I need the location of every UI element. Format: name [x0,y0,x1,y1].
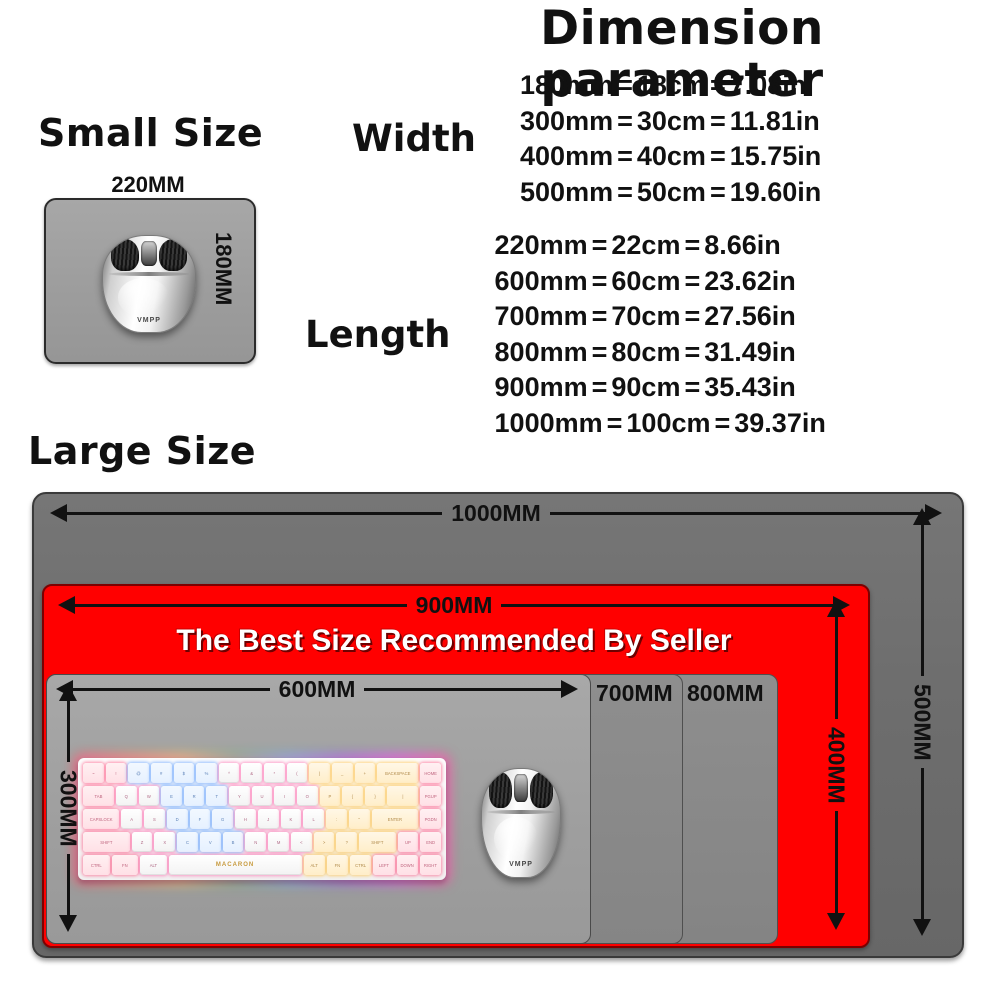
key: @ [128,763,149,783]
equals-sign: = [588,266,612,296]
strip-label-700mm: 700MM [596,680,673,707]
spec-row: 800mm=80cm=31.49in [495,335,826,371]
value-in: 7.08in [730,70,807,100]
key: ! [106,763,127,783]
key: H [235,809,256,829]
value-mm: 600mm [495,266,588,296]
key-capslock: CAPSLOCK [83,809,119,829]
key: ? [336,832,357,852]
dimension-arrow-600mm: 600MM [56,679,578,699]
equals-sign: = [680,372,704,402]
key-pgup: PGUP [420,786,441,806]
spec-row: 300mm=30cm=11.81in [520,104,821,140]
large-size-title: Large Size [28,430,256,472]
key-arrow-right: RIGHT [420,855,441,875]
equals-sign: = [680,301,704,331]
arrow-head-down-icon [913,919,931,936]
dimension-arrow-500mm: 500MM [912,508,932,936]
width-spec-group: Width { 180mm=18cm=7.08in 300mm=30cm=11.… [352,68,821,210]
key: D [167,809,188,829]
arrow-head-up-icon [913,508,931,525]
value-in: 31.49in [704,337,796,367]
key-end: END [420,832,441,852]
small-size-title: Small Size [38,112,263,154]
key: E [161,786,182,806]
equals-sign: = [613,106,637,136]
arrow-head-left-icon [58,596,75,614]
mouse-scroll-wheel [514,774,528,802]
key-enter: ENTER [372,809,419,829]
arrow-head-down-icon [827,913,845,930]
keyboard-row: CTRL FN ALT MACARON ALT FN CTRL LEFT DOW… [83,855,441,875]
value-mm: 180mm [520,70,613,100]
arrow-line [921,768,924,919]
key: _ [332,763,353,783]
value-cm: 100cm [626,408,710,438]
key-pgdn: PGDN [420,809,441,829]
equals-sign: = [613,70,637,100]
key: L [303,809,324,829]
width-label: Width [352,119,480,159]
key: R [184,786,205,806]
key: W [139,786,160,806]
key: V [200,832,221,852]
mouse-gloss [494,817,538,860]
equals-sign: = [680,230,704,260]
length-spec-group: Length { 220mm=22cm=8.66in 600mm=60cm=23… [305,228,826,441]
key: % [196,763,217,783]
value-in: 15.75in [730,141,822,171]
small-pad-width-label: 220MM [44,172,252,198]
dimension-arrow-900mm: 900MM [58,595,850,615]
mouse-illustration: VMPP [102,235,194,331]
value-mm: 400mm [520,141,613,171]
value-mm: 220mm [495,230,588,260]
key: K [281,809,302,829]
value-mm: 300mm [520,106,613,136]
arrow-line [75,604,407,607]
mouse-brand-label: VMPP [482,861,560,868]
equals-sign: = [706,106,730,136]
length-label: Length [305,315,455,355]
spec-row: 400mm=40cm=15.75in [520,139,821,175]
keyboard-row: ~ ! @ # $ % ^ & * ( ) _ + BACKSPACE HOME [83,763,441,783]
key-arrow-left: LEFT [373,855,394,875]
key: P [320,786,341,806]
arrow-line [501,604,833,607]
arrow-line [364,688,561,691]
mouse-left-button [111,239,139,271]
equals-sign: = [613,177,637,207]
recommendation-text: The Best Size Recommended By Seller [42,624,866,658]
arrow-line [550,512,925,515]
spec-row: 180mm=18cm=7.08in [520,68,821,104]
dimension-label: 500MM [909,676,936,769]
key: I [274,786,295,806]
key: ~ [83,763,104,783]
key-backspace: BACKSPACE [377,763,418,783]
key: Y [229,786,250,806]
value-in: 23.62in [704,266,796,296]
keyboard-illustration: ~ ! @ # $ % ^ & * ( ) _ + BACKSPACE HOME… [78,758,446,880]
mouse-brand-label: VMPP [103,317,195,324]
spec-row: 900mm=90cm=35.43in [495,370,826,406]
value-cm: 40cm [637,141,706,171]
arrow-head-left-icon [50,504,67,522]
key: X [154,832,175,852]
value-in: 11.81in [730,106,820,136]
key-fn-right: FN [327,855,348,875]
mouse-illustration: VMPP [481,768,559,876]
key-alt-right: ALT [304,855,325,875]
dimension-label: 600MM [270,676,365,703]
key: ) [309,763,330,783]
mouse-body: VMPP [481,768,561,878]
key: O [297,786,318,806]
value-mm: 700mm [495,301,588,331]
key: } [365,786,386,806]
key: { [342,786,363,806]
key: G [212,809,233,829]
value-cm: 50cm [637,177,706,207]
keyboard-row: CAPSLOCK A S D F G H J K L : " ENTER PGD… [83,809,441,829]
mouse-right-button [159,239,187,271]
dimension-label: 900MM [407,592,502,619]
equals-sign: = [706,177,730,207]
value-mm: 900mm [495,372,588,402]
key: S [144,809,165,829]
arrow-head-right-icon [561,680,578,698]
key: B [223,832,244,852]
equals-sign: = [588,337,612,367]
strip-label-800mm: 800MM [687,680,764,707]
key: | [387,786,418,806]
dimension-arrow-300mm: 300MM [58,684,78,932]
dimension-label: 400MM [823,719,850,812]
equals-sign: = [588,372,612,402]
spec-row: 600mm=60cm=23.62in [495,264,826,300]
dimension-arrow-1000mm: 1000MM [50,503,942,523]
equals-sign: = [613,141,637,171]
equals-sign: = [680,337,704,367]
key: T [206,786,227,806]
spec-row: 700mm=70cm=27.56in [495,299,826,335]
value-cm: 18cm [637,70,706,100]
key: A [121,809,142,829]
key: < [291,832,312,852]
mouse-seam [487,810,556,814]
mouse-seam [109,272,190,276]
key: ^ [219,763,240,783]
key-spacebar: MACARON [169,855,302,875]
value-cm: 70cm [611,301,680,331]
key-arrow-down: DOWN [397,855,418,875]
key: Q [116,786,137,806]
value-cm: 80cm [611,337,680,367]
arrow-head-down-icon [59,915,77,932]
spec-row: 500mm=50cm=19.60in [520,175,821,211]
spec-row: 1000mm=100cm=39.37in [495,406,826,442]
key: Z [132,832,153,852]
value-in: 8.66in [704,230,781,260]
key: $ [174,763,195,783]
arrow-head-up-icon [827,600,845,617]
key-ctrl-right: CTRL [350,855,371,875]
equals-sign: = [603,408,627,438]
equals-sign: = [680,266,704,296]
arrow-head-up-icon [59,684,77,701]
spec-row: 220mm=22cm=8.66in [495,228,826,264]
width-rows: 180mm=18cm=7.08in 300mm=30cm=11.81in 400… [514,68,821,210]
key: > [314,832,335,852]
arrow-line [67,701,70,762]
mouse-body: VMPP [102,235,196,333]
key: : [326,809,347,829]
key-ctrl-left: CTRL [83,855,110,875]
arrow-line [835,811,838,913]
arrow-line [921,525,924,676]
value-mm: 800mm [495,337,588,367]
key: M [268,832,289,852]
arrow-line [67,512,442,515]
equals-sign: = [710,408,734,438]
key: ( [287,763,308,783]
key-shift-left: SHIFT [83,832,130,852]
keyboard-row: SHIFT Z X C V B N M < > ? SHIFT UP END [83,832,441,852]
value-cm: 60cm [611,266,680,296]
value-in: 39.37in [734,408,826,438]
arrow-line [67,854,70,915]
value-mm: 500mm [520,177,613,207]
mouse-left-button [489,772,512,808]
key: * [264,763,285,783]
dimension-label: 300MM [55,762,82,855]
value-cm: 22cm [611,230,680,260]
key: N [245,832,266,852]
length-rows: 220mm=22cm=8.66in 600mm=60cm=23.62in 700… [489,228,826,441]
mouse-scroll-wheel [141,241,158,266]
arrow-line [73,688,270,691]
key-alt-left: ALT [140,855,167,875]
keyboard-row: TAB Q W E R T Y U I O P { } | PGUP [83,786,441,806]
value-cm: 30cm [637,106,706,136]
equals-sign: = [588,301,612,331]
key-arrow-up: UP [398,832,419,852]
mouse-right-button [530,772,553,808]
key: J [258,809,279,829]
key: & [241,763,262,783]
value-cm: 90cm [611,372,680,402]
key-tab: TAB [83,786,114,806]
key-fn-left: FN [112,855,139,875]
value-mm: 1000mm [495,408,603,438]
key-home: HOME [420,763,441,783]
key-shift-right: SHIFT [359,832,395,852]
mouse-gloss [118,278,170,316]
small-pad-height-label: 180MM [210,232,236,305]
key: F [190,809,211,829]
key: # [151,763,172,783]
equals-sign: = [706,141,730,171]
dimension-label: 1000MM [442,500,549,527]
key: + [355,763,376,783]
key: C [177,832,198,852]
value-in: 27.56in [704,301,796,331]
value-in: 19.60in [730,177,822,207]
equals-sign: = [588,230,612,260]
infographic-canvas: Dimension parameter Width { 180mm=18cm=7… [0,0,1000,1000]
value-in: 35.43in [704,372,796,402]
key: " [349,809,370,829]
key: U [252,786,273,806]
equals-sign: = [706,70,730,100]
